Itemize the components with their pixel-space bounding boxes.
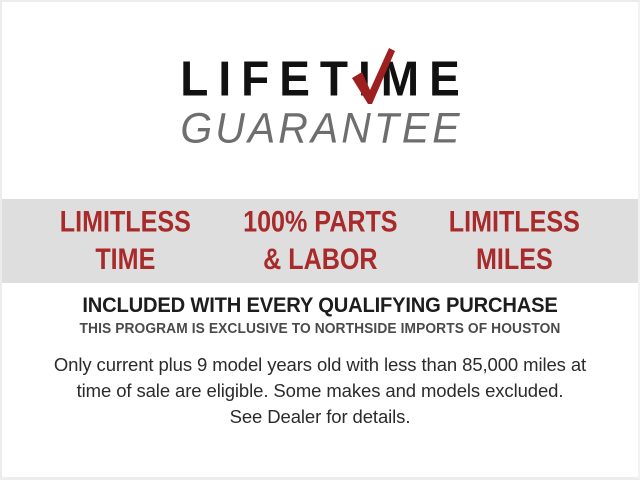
body-block: INCLUDED WITH EVERY QUALIFYING PURCHASE … — [2, 294, 638, 431]
feature-line-1: LIMITLESS — [60, 206, 191, 238]
feature-column-limitless-miles: LIMITLESS MILES — [424, 204, 605, 279]
feature-column-parts-labor: 100% PARTS & LABOR — [229, 204, 410, 279]
logo-guarantee-text: GUARANTEE — [170, 106, 470, 151]
logo-lockup: LIFETIME GUARANTEE — [170, 54, 470, 149]
fineprint-line: time of sale are eligible. Some makes an… — [35, 378, 605, 404]
feature-column-limitless-time: LIMITLESS TIME — [35, 204, 216, 279]
feature-line-1: 100% PARTS — [243, 206, 397, 238]
feature-line-2: & LABOR — [229, 241, 410, 278]
fineprint-disclaimer: Only current plus 9 model years old with… — [35, 352, 605, 431]
subheadline: THIS PROGRAM IS EXCLUSIVE TO NORTHSIDE I… — [35, 321, 605, 338]
lifetime-guarantee-ad: LIFETIME GUARANTEE LIMITLESS TIME 100% P… — [0, 0, 640, 480]
logo-block: LIFETIME GUARANTEE — [2, 54, 638, 149]
feature-line-1: LIMITLESS — [449, 206, 580, 238]
feature-line-2: MILES — [424, 241, 605, 278]
headline: INCLUDED WITH EVERY QUALIFYING PURCHASE — [32, 294, 608, 318]
fineprint-line: Only current plus 9 model years old with… — [35, 352, 605, 378]
feature-line-2: TIME — [35, 241, 216, 278]
fineprint-line: See Dealer for details. — [35, 404, 605, 430]
logo-lifetime-text: LIFETIME — [170, 54, 470, 105]
feature-banner: LIMITLESS TIME 100% PARTS & LABOR LIMITL… — [2, 199, 638, 283]
